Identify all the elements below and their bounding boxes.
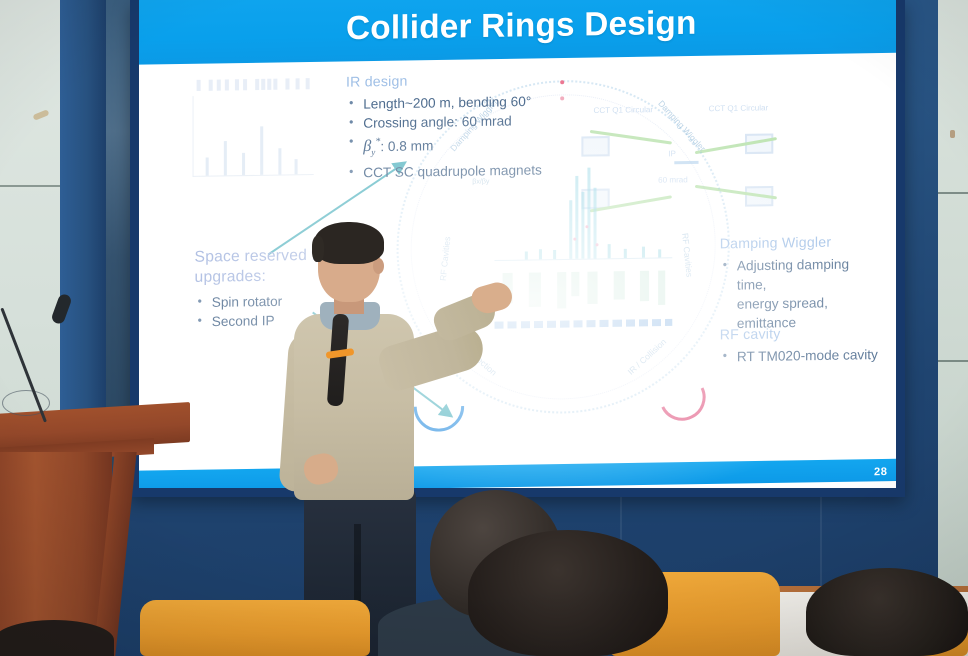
presenter-hair <box>314 222 384 264</box>
left-glass-strip <box>106 0 132 470</box>
rf-cavity-heading: RF cavity <box>720 324 878 343</box>
ir-design-bullets: Length~200 m, bending 60° Crossing angle… <box>346 92 542 182</box>
slide-body: CCT Q1 Circular CCT Q1 Circular IP 60 mr… <box>139 53 896 471</box>
rf-cavity-block: RF cavity RT TM020-mode cavity <box>720 324 878 367</box>
damping-wiggler-bullets: Adjusting damping time,energy spread, em… <box>720 254 882 333</box>
audience-head <box>806 568 968 656</box>
audience-head <box>468 530 668 656</box>
lecture-hall-scene: Collider Rings Design <box>0 0 968 656</box>
list-item: RT TM020-mode cavity <box>720 345 878 367</box>
ir-design-heading: IR design <box>346 70 542 89</box>
right-wall-panel <box>938 0 968 595</box>
list-item: βy*: 0.8 mm <box>346 130 542 163</box>
chair-back <box>140 600 370 656</box>
presentation-slide: Collider Rings Design <box>139 0 896 488</box>
audience-head <box>0 620 114 656</box>
projection-screen: Collider Rings Design <box>130 0 905 497</box>
slide-page-number: 28 <box>874 466 887 478</box>
list-item: Adjusting damping time,energy spread, em… <box>720 254 882 333</box>
list-item: CCT SC quadrupole magnets <box>346 160 542 182</box>
damping-wiggler-block: Damping Wiggler Adjusting damping time,e… <box>720 233 882 334</box>
rf-cavity-bullets: RT TM020-mode cavity <box>720 345 878 367</box>
ir-design-block: IR design Length~200 m, bending 60° Cros… <box>346 70 542 182</box>
lattice-optics-plot-icon <box>174 72 325 191</box>
damping-wiggler-heading: Damping Wiggler <box>720 233 882 252</box>
page-title: Collider Rings Design <box>346 3 697 47</box>
